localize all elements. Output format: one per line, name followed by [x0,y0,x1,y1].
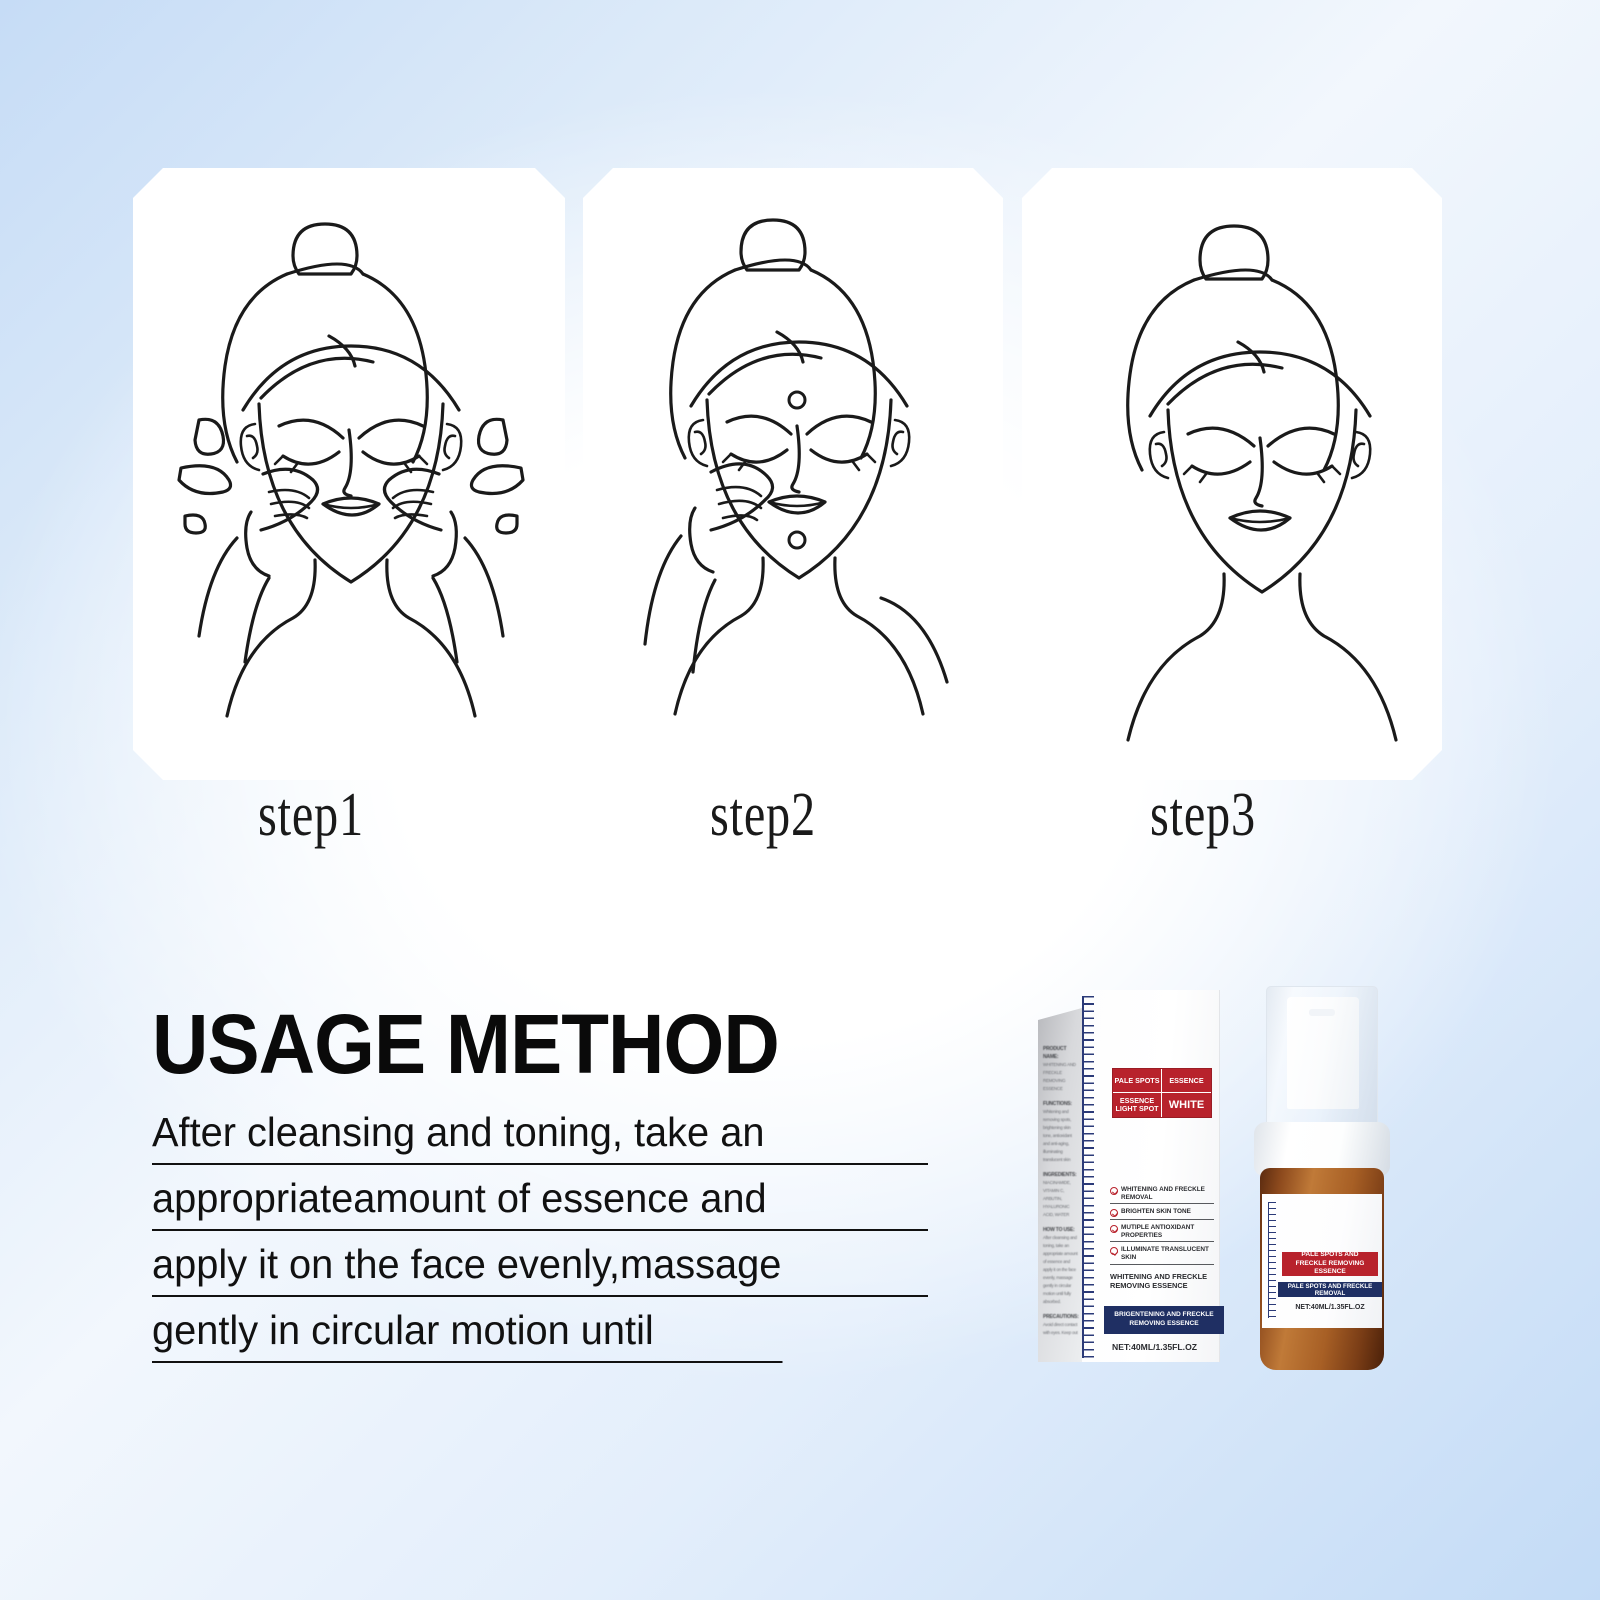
side-text-1: WHITENING AND FRECKLE REMOVING ESSENCE [1043,1062,1076,1091]
feature-label: ILLUMINATE TRANSLUCENT SKIN [1121,1246,1214,1261]
badge-pale-spots: PALE SPOTS [1113,1069,1162,1093]
check-circle-icon [1110,1225,1118,1233]
step-card-1 [133,168,565,780]
usage-body: After cleansing and toning, take an appr… [152,1112,952,1363]
carton-navy-band: BRIGENTENING AND FRECKLE REMOVING ESSENC… [1104,1306,1224,1334]
badge-essence-light-spot: ESSENCE LIGHT SPOT [1113,1093,1162,1117]
check-circle-icon [1110,1187,1118,1195]
check-circle-icon [1110,1247,1118,1255]
product-carton: PRODUCT NAME: WHITENING AND FRECKLE REMO… [1038,990,1220,1362]
step2-illustration-applying-essence [583,168,1003,780]
usage-heading: USAGE METHOD [152,1002,896,1086]
bottle-net-volume: NET:40ML/1.35FL.OZ [1278,1304,1382,1311]
side-heading-1: PRODUCT NAME: [1043,1045,1079,1061]
badge-white: WHITE [1162,1093,1211,1117]
badge-essence: ESSENCE [1162,1069,1211,1093]
bottle-ruler-graphic [1268,1202,1276,1318]
bottle-pump-head [1287,997,1359,1109]
carton-side-text: PRODUCT NAME: WHITENING AND FRECKLE REMO… [1043,1038,1079,1338]
step-labels-row: step1 step2 step3 [0,780,1600,870]
step-label-1: step1 [258,780,364,851]
feature-label: BRIGHTEN SKIN TONE [1121,1208,1191,1216]
product-bottle: PALE SPOTS AND FRECKLE REMOVING ESSENCE … [1230,986,1415,1370]
carton-side-panel: PRODUCT NAME: WHITENING AND FRECKLE REMO… [1038,1008,1082,1362]
usage-section: USAGE METHOD After cleansing and toning,… [152,1002,952,1376]
carton-ruler-graphic [1082,996,1094,1358]
step-cards-row [0,168,1600,788]
product-image: PRODUCT NAME: WHITENING AND FRECKLE REMO… [1020,978,1440,1398]
step1-illustration-washing-face [133,168,565,780]
infographic-page: step1 step2 step3 USAGE METHOD After cle… [0,0,1600,1600]
step3-illustration-relaxed-face [1022,168,1442,780]
side-heading-5: PRECAUTIONS: [1043,1313,1079,1321]
bottle-amber-glass: PALE SPOTS AND FRECKLE REMOVING ESSENCE … [1260,1168,1384,1370]
usage-line-2: appropriateamount of essence and [152,1178,928,1231]
side-text-4: After cleansing and toning, take an appr… [1043,1235,1077,1304]
carton-net-volume: NET:40ML/1.35FL.OZ [1112,1342,1222,1352]
feature-label: WHITENING AND FRECKLE REMOVAL [1121,1186,1214,1201]
side-heading-4: HOW TO USE: [1043,1226,1079,1234]
bottle-label: PALE SPOTS AND FRECKLE REMOVING ESSENCE … [1262,1194,1382,1328]
check-circle-icon [1110,1209,1118,1217]
feature-item: BRIGHTEN SKIN TONE [1110,1208,1214,1220]
carton-front-panel: PALE SPOTS ESSENCE ESSENCE LIGHT SPOT WH… [1082,990,1220,1362]
side-text-3: NIACINAMIDE, VITAMIN C, ARBUTIN, HYALURO… [1043,1180,1071,1217]
usage-line-1: After cleansing and toning, take an [152,1112,928,1165]
bottle-red-label: PALE SPOTS AND FRECKLE REMOVING ESSENCE [1282,1252,1378,1276]
usage-line-4: gently in circular motion until [152,1310,928,1363]
bottle-navy-label: PALE SPOTS AND FRECKLE REMOVAL [1278,1282,1382,1297]
side-heading-3: INGREDIENTS: [1043,1171,1079,1179]
bottle-clear-cap [1266,986,1378,1126]
feature-item: MUTIPLE ANTIOXIDANT PROPERTIES [1110,1224,1214,1242]
feature-item: WHITENING AND FRECKLE REMOVAL [1110,1186,1214,1204]
step-label-2: step2 [710,780,816,851]
feature-item: ILLUMINATE TRANSLUCENT SKIN [1110,1246,1214,1264]
carton-red-badge: PALE SPOTS ESSENCE ESSENCE LIGHT SPOT WH… [1112,1068,1212,1118]
step-card-3 [1022,168,1442,780]
step-label-3: step3 [1150,780,1256,851]
carton-subtitle: WHITENING AND FRECKLE REMOVING ESSENCE [1110,1272,1220,1291]
feature-label: MUTIPLE ANTIOXIDANT PROPERTIES [1121,1224,1214,1239]
side-text-2: Whitening and removing spots, brightenin… [1043,1109,1072,1162]
usage-line-3: apply it on the face evenly,massage [152,1244,928,1297]
carton-feature-list: WHITENING AND FRECKLE REMOVAL BRIGHTEN S… [1110,1186,1214,1269]
side-text-5: Avoid direct contact with eyes. Keep out… [1043,1322,1078,1338]
step-card-2 [583,168,1003,780]
side-heading-2: FUNCTIONS: [1043,1100,1079,1108]
